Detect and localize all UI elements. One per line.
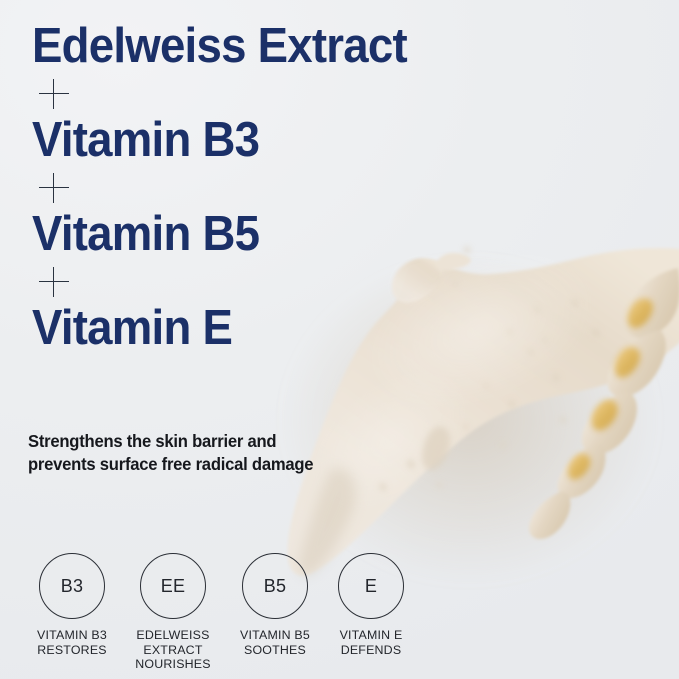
plus-separator-3: [32, 258, 502, 304]
badge-abbr-b3: B3: [61, 577, 83, 595]
benefit-description: Strengthens the skin barrier and prevent…: [28, 430, 342, 476]
ingredient-badge-row: B3 VITAMIN B3 RESTORES EE EDELWEISS EXTR…: [22, 553, 442, 673]
headline-vitamin-e: Vitamin E: [32, 304, 469, 352]
infographic-canvas: Edelweiss Extract Vitamin B3 Vitamin B5 …: [0, 0, 679, 679]
badge-abbr-ee: EE: [161, 577, 185, 595]
ingredient-headline-stack: Edelweiss Extract Vitamin B3 Vitamin B5 …: [32, 22, 502, 352]
plus-separator-1: [32, 70, 502, 116]
benefit-description-line-1: Strengthens the skin barrier and: [28, 430, 342, 453]
badge-edelweiss-extract: EE EDELWEISS EXTRACT NOURISHES: [123, 553, 223, 672]
badge-circle-ee: EE: [140, 553, 206, 619]
badge-circle-e: E: [338, 553, 404, 619]
plus-icon: [39, 267, 69, 297]
headline-edelweiss-extract: Edelweiss Extract: [32, 22, 469, 70]
badge-circle-b3: B3: [39, 553, 105, 619]
badge-abbr-b5: B5: [264, 577, 286, 595]
headline-vitamin-b5: Vitamin B5: [32, 210, 469, 258]
badge-caption-b3: VITAMIN B3 RESTORES: [22, 628, 122, 657]
badge-circle-b5: B5: [242, 553, 308, 619]
badge-caption-ee: EDELWEISS EXTRACT NOURISHES: [123, 628, 223, 672]
badge-vitamin-e: E VITAMIN E DEFENDS: [321, 553, 421, 657]
plus-icon: [39, 79, 69, 109]
headline-vitamin-b3: Vitamin B3: [32, 116, 469, 164]
badge-caption-e: VITAMIN E DEFENDS: [321, 628, 421, 657]
badge-vitamin-b5: B5 VITAMIN B5 SOOTHES: [225, 553, 325, 657]
badge-abbr-e: E: [365, 577, 377, 595]
benefit-description-line-2: prevents surface free radical damage: [28, 453, 342, 476]
plus-separator-2: [32, 164, 502, 210]
plus-icon: [39, 173, 69, 203]
badge-vitamin-b3: B3 VITAMIN B3 RESTORES: [22, 553, 122, 657]
badge-caption-b5: VITAMIN B5 SOOTHES: [225, 628, 325, 657]
